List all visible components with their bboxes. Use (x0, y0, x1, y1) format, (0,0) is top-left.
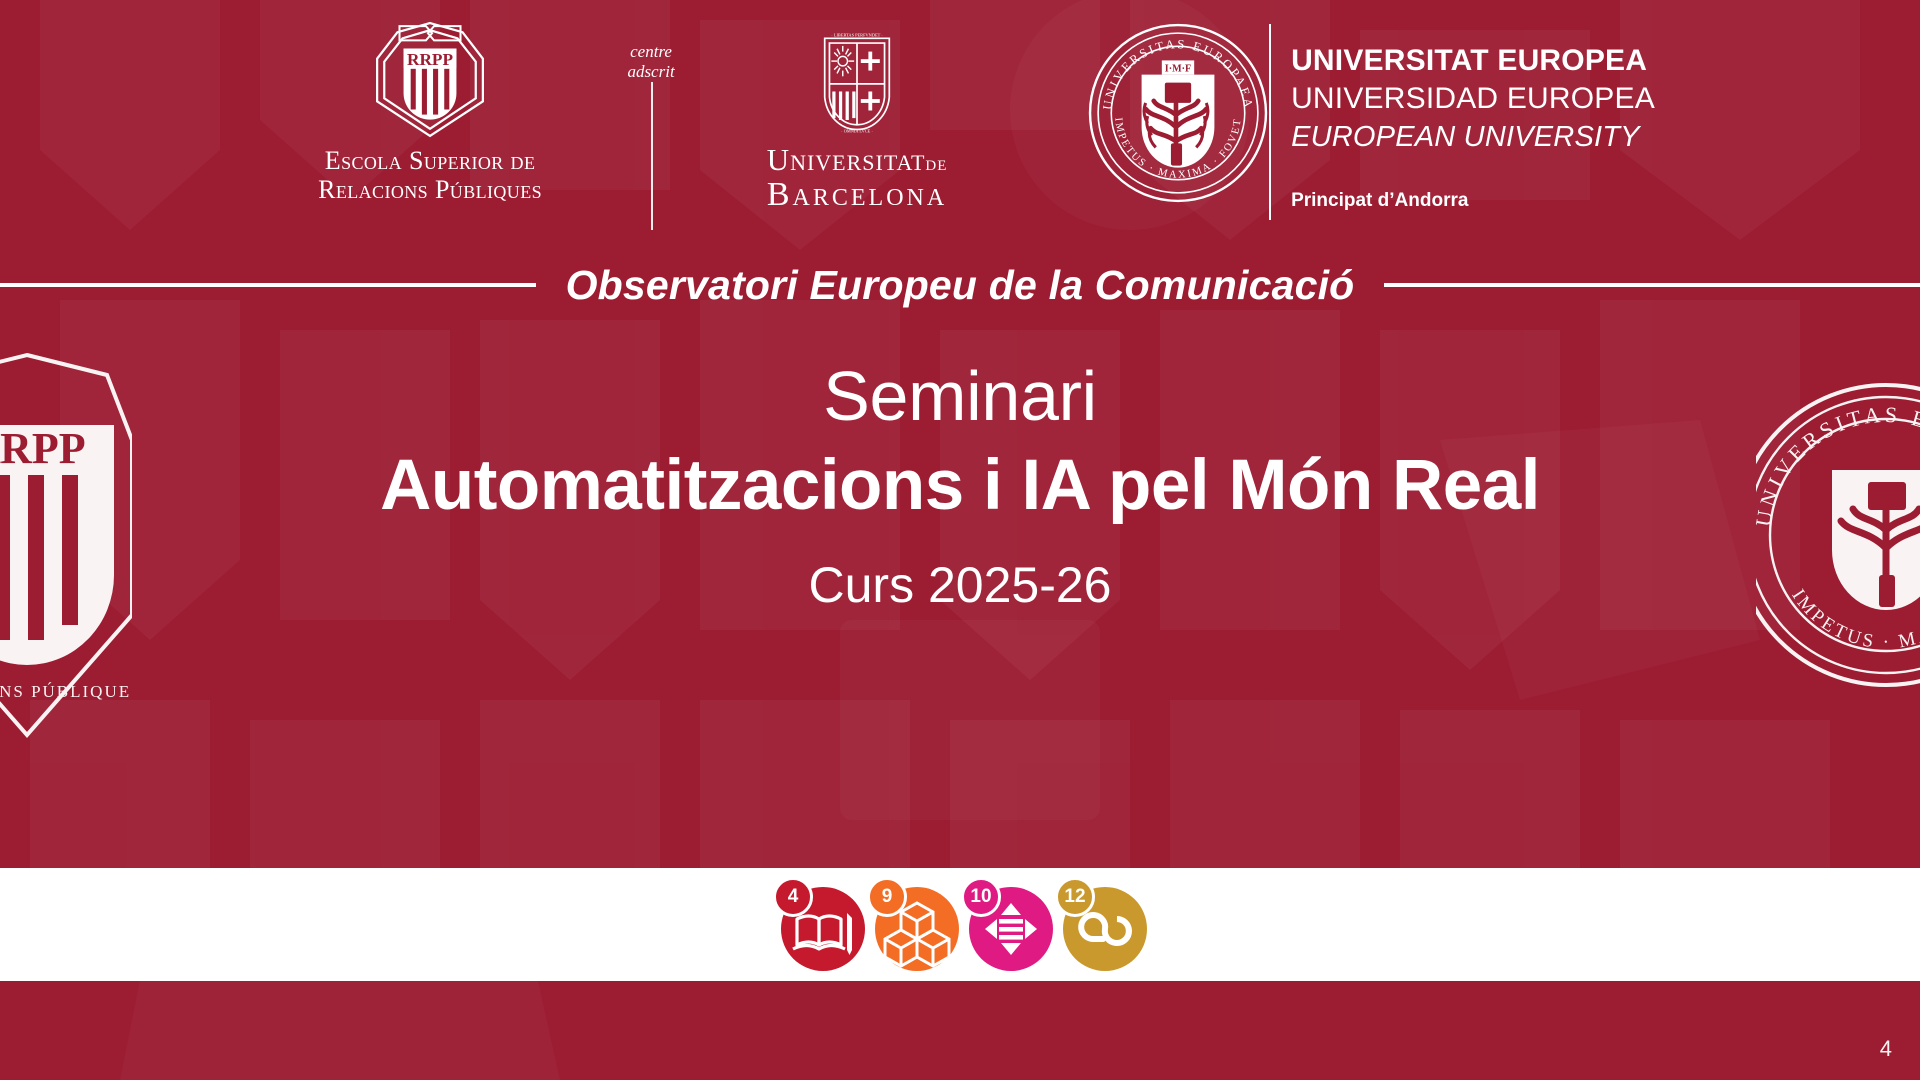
esrp-name: Escola Superior de Relacions Públiques (318, 146, 542, 204)
sdg-12-number: 12 (1064, 886, 1085, 908)
ub-name: Universitatde Barcelona (767, 144, 948, 212)
universitas-europaea-seal-icon: UNIVERSITAS EUROPAEA IMPETUS · MAXIMA · … (1087, 22, 1269, 204)
eyebrow-title: Seminari (0, 355, 1920, 438)
course-year: Curs 2025-26 (0, 556, 1920, 614)
banner-rule-right (1384, 283, 1920, 287)
centre-adscrit-text: centre adscrit (627, 42, 674, 82)
banner-rule-left (0, 283, 536, 287)
sdg-10-badge: 10 (961, 877, 1001, 917)
sdg-9-number: 9 (882, 886, 893, 908)
ue-text-block: UNIVERSITAT EUROPEA UNIVERSIDAD EUROPEA … (1269, 22, 1655, 212)
ub-name-de: de (925, 150, 947, 175)
logo-escola-superior-relacions-publiques: RRPP Escola Superior de Relacions Públiq… (265, 18, 595, 204)
svg-text:· LIBERTAS PERFVNDET ·: · LIBERTAS PERFVNDET · (831, 32, 883, 37)
title-block: Seminari Automatitzacions i IA pel Món R… (0, 355, 1920, 614)
centre-adscrit-line2: adscrit (627, 62, 674, 82)
ub-name-line1-text: Universitat (767, 142, 926, 177)
logo-bar: RRPP Escola Superior de Relacions Públiq… (0, 18, 1920, 233)
sdg-goal-9: 9 (867, 879, 959, 971)
ub-name-line2: Barcelona (767, 177, 948, 213)
sdg-4-badge: 4 (773, 877, 813, 917)
sdg-goal-12: 12 (1055, 879, 1147, 971)
esrp-name-line2: Relacions Públiques (318, 175, 542, 204)
logo-divider (651, 82, 653, 230)
ub-name-line1: Universitatde (767, 144, 948, 177)
svg-text:RELACIONS PÚBLIQUES: RELACIONS PÚBLIQUES (0, 682, 132, 701)
ue-line-english: EUROPEAN UNIVERSITY (1291, 119, 1655, 156)
svg-text:· OMNIA LVCE ·: · OMNIA LVCE · (841, 128, 873, 133)
ue-line-catalan: UNIVERSITAT EUROPEA (1291, 42, 1655, 80)
esrp-name-line1: Escola Superior de (318, 146, 542, 175)
sdg-4-number: 4 (788, 886, 799, 908)
rrpp-shield-label: RRPP (407, 50, 453, 69)
rrpp-shield-icon: RRPP (369, 18, 491, 140)
ue-line-spanish: UNIVERSIDAD EUROPEA (1291, 80, 1655, 118)
sdg-12-badge: 12 (1055, 877, 1095, 917)
sdg-goal-10: 10 (961, 879, 1053, 971)
slide-stage: RRPP Escola Superior de Relacions Públiq… (0, 0, 1920, 1080)
ue-line-location: Principat d’Andorra (1291, 190, 1655, 212)
page-number: 4 (1880, 1036, 1892, 1062)
observatori-banner: Observatori Europeu de la Comunicació (0, 255, 1920, 315)
svg-text:I·M·F: I·M·F (1165, 64, 1191, 75)
sdg-9-badge: 9 (867, 877, 907, 917)
logo-universitat-europea: UNIVERSITAS EUROPAEA IMPETUS · MAXIMA · … (1007, 18, 1655, 212)
logo-universitat-de-barcelona: · LIBERTAS PERFVNDET · · OMNIA LVCE · Un… (707, 18, 1007, 212)
sdg-10-number: 10 (970, 886, 991, 908)
centre-adscrit-line1: centre (627, 42, 674, 62)
centre-adscrit-block: centre adscrit (595, 18, 707, 82)
page-title: Automatitzacions i IA pel Món Real (0, 442, 1920, 531)
ub-shield-icon: · LIBERTAS PERFVNDET · · OMNIA LVCE · (819, 30, 895, 134)
sdg-goal-4: 4 (773, 879, 865, 971)
sdg-band: 4 9 (0, 868, 1920, 981)
banner-title: Observatori Europeu de la Comunicació (536, 262, 1385, 309)
